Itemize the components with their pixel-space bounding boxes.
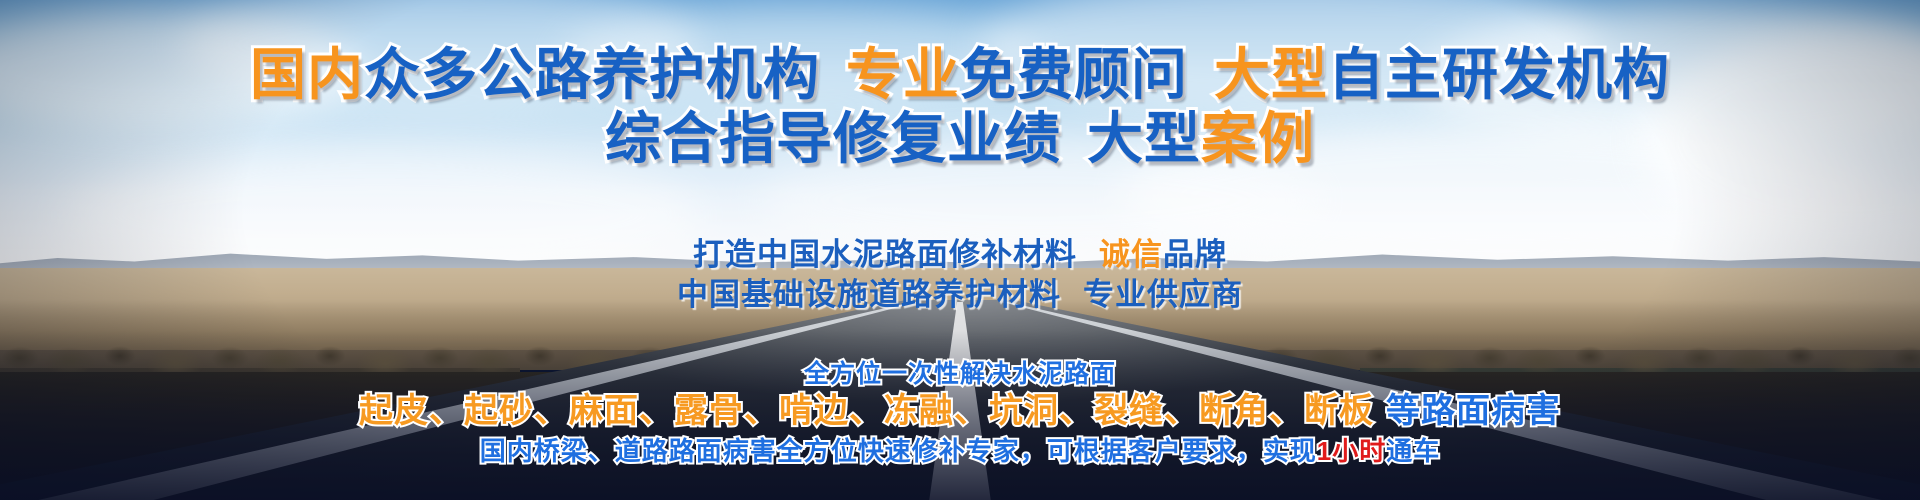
disease-list: 起皮、起砂、麻面、露骨、啃边、冻融、坑洞、裂缝、断角、断板: [359, 392, 1374, 430]
lower-line-2: 起皮、起砂、麻面、露骨、啃边、冻融、坑洞、裂缝、断角、断板等路面病害: [0, 390, 1920, 432]
lower-3-highlight: 1小时: [1317, 436, 1386, 466]
subtitle-line-2: 中国基础设施道路养护材料专业供应商: [0, 276, 1920, 314]
headline-2-seg-1: 综合指导修复业绩: [605, 107, 1061, 170]
subtitle-1-accent: 诚信: [1099, 237, 1163, 272]
headline-line-1: 国内众多公路养护机构专业免费顾问大型自主研发机构: [0, 44, 1920, 106]
headline-1-seg-2: 众多公路养护机构: [364, 43, 820, 106]
headline-1-seg-4: 免费顾问: [960, 43, 1188, 106]
subtitle-2-main: 中国基础设施道路养护材料: [677, 277, 1061, 312]
subtitle-line-1: 打造中国水泥路面修补材料诚信品牌: [0, 236, 1920, 274]
headline-1-seg-5: 大型: [1214, 43, 1328, 106]
lower-line-1: 全方位一次性解决水泥路面: [0, 358, 1920, 390]
disease-list-tail: 等路面病害: [1386, 392, 1561, 430]
lower-3-post: 通车: [1386, 436, 1440, 466]
subtitle-1-main: 打造中国水泥路面修补材料: [693, 237, 1077, 272]
headline-line-2: 综合指导修复业绩大型案例: [0, 108, 1920, 170]
headline-1-seg-3: 专业: [846, 43, 960, 106]
lower-3-pre: 国内桥梁、道路路面病害全方位快速修补专家，可根据客户要求，实现: [480, 436, 1317, 466]
promotional-banner: 国内众多公路养护机构专业免费顾问大型自主研发机构 综合指导修复业绩大型案例 打造…: [0, 0, 1920, 500]
headline-2-seg-3: 案例: [1201, 107, 1315, 170]
headline-1-seg-1: 国内: [250, 43, 364, 106]
headline-1-seg-6: 自主研发机构: [1328, 43, 1670, 106]
subtitle-1-tail: 品牌: [1163, 237, 1227, 272]
lower-line-3: 国内桥梁、道路路面病害全方位快速修补专家，可根据客户要求，实现1小时通车: [0, 434, 1920, 468]
headline-2-seg-2: 大型: [1087, 107, 1201, 170]
lower-1-text: 全方位一次性解决水泥路面: [804, 360, 1116, 388]
banner-content: 国内众多公路养护机构专业免费顾问大型自主研发机构 综合指导修复业绩大型案例 打造…: [0, 0, 1920, 500]
subtitle-2-tail: 专业供应商: [1083, 277, 1243, 312]
